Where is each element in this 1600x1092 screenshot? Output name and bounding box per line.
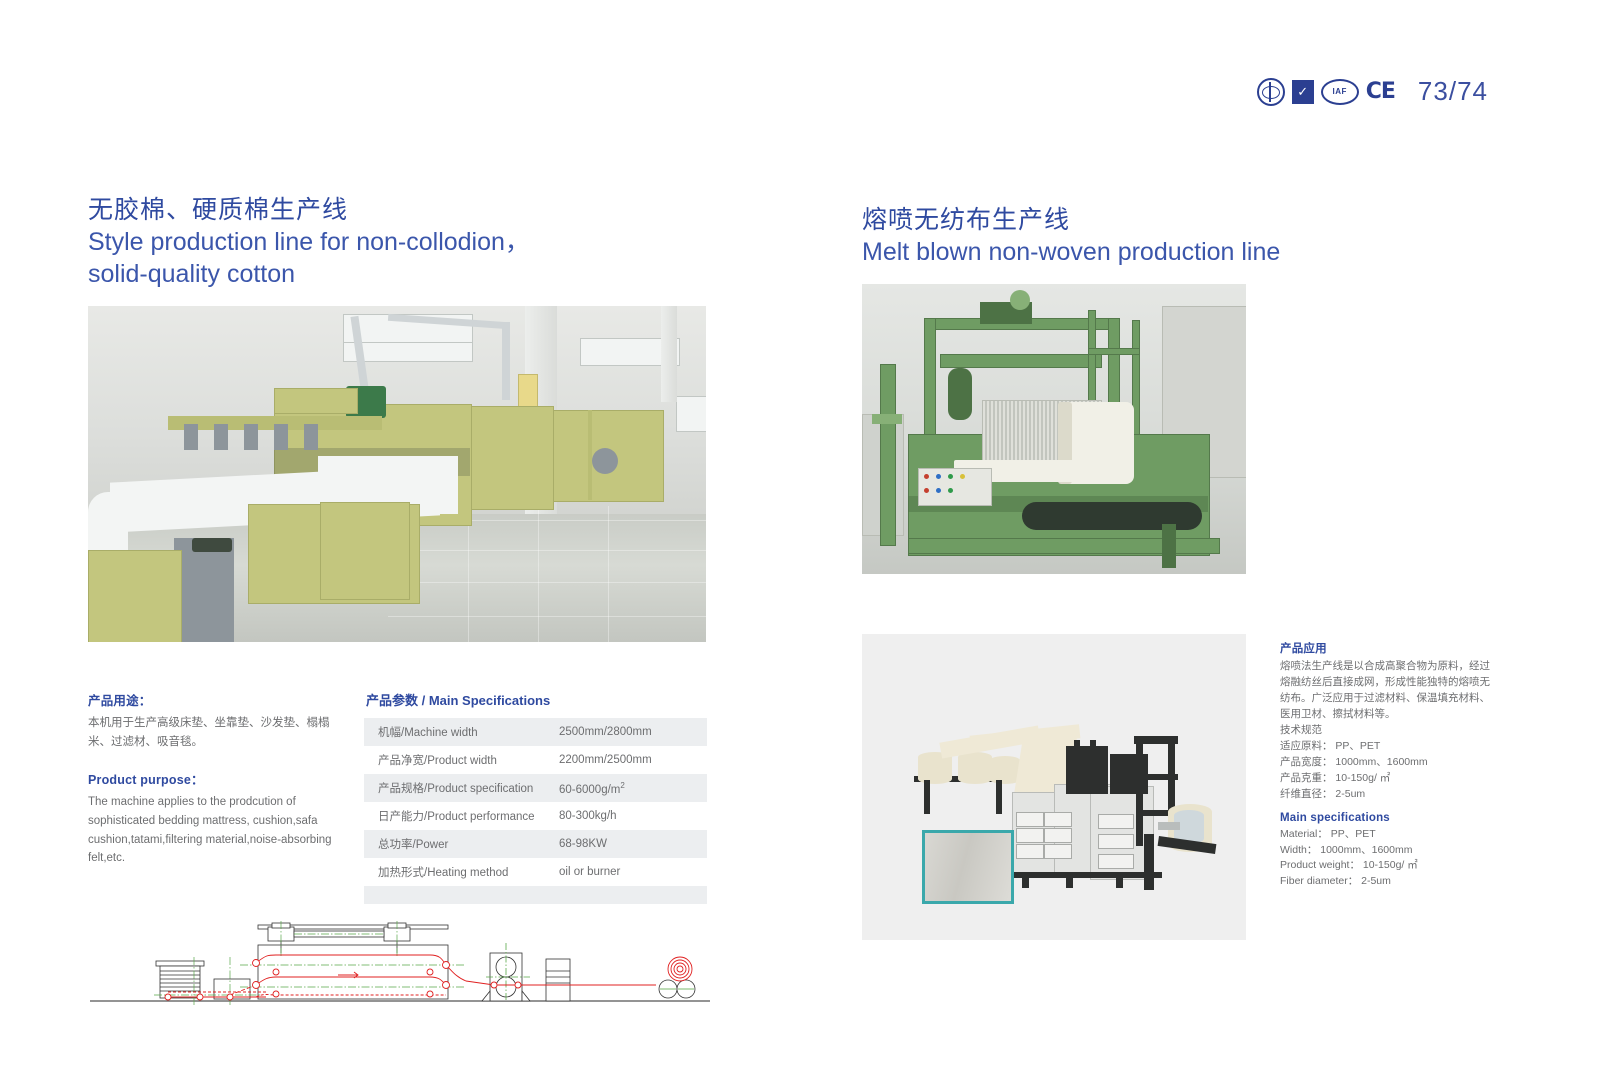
application-spec-line-en: Fiber diameter： 2-5um [1280, 874, 1498, 890]
purpose-heading-cn: 产品用途： [88, 690, 343, 709]
fabric-sample-inset [922, 830, 1014, 904]
application-spec-line-en: Width： 1000mm、1600mm [1280, 843, 1498, 859]
product-application-block: 产品应用 熔喷法生产线是以合成高聚合物为原料，经过熔融纺丝后直接成网，形成性能独… [1280, 640, 1498, 890]
specifications-block: 产品参数 / Main Specifications 机幅/Machine wi… [364, 690, 707, 904]
spec-row: 总功率/Power68-98KW [364, 830, 707, 858]
application-heading-en: Main specifications [1280, 812, 1498, 824]
page-number: 73/74 [1418, 76, 1488, 107]
right-title-cn: 熔喷无纺布生产线 [862, 200, 1502, 236]
left-title-block: 无胶棉、硬质棉生产线 Style production line for non… [88, 190, 708, 290]
application-spec-line-en: Product weight： 10-150g/ ㎡ [1280, 858, 1498, 874]
application-heading-cn: 产品应用 [1280, 640, 1498, 656]
spec-value: 68-98KW [549, 830, 707, 858]
application-specs-en: Material： PP、PETWidth： 1000mm、1600mmProd… [1280, 827, 1498, 891]
application-specs-cn: 适应原料： PP、PET产品宽度： 1000mm、1600mm产品克重： 10-… [1280, 739, 1498, 803]
purpose-text-en: The machine applies to the prodcution of… [88, 793, 343, 868]
mask-machine-photo [862, 634, 1246, 940]
right-factory-photo [862, 284, 1246, 574]
application-spec-line-cn: 产品克重： 10-150g/ ㎡ [1280, 771, 1498, 787]
application-text-cn: 熔喷法生产线是以合成高聚合物为原料，经过熔融纺丝后直接成网，形成性能独特的熔喷无… [1280, 659, 1498, 723]
cnas-check-icon: ✓ [1292, 80, 1314, 104]
left-title-en: Style production line for non-collodion，… [88, 226, 708, 290]
right-title-en: Melt blown non-woven production line [862, 236, 1502, 268]
application-spec-line-cn: 产品宽度： 1000mm、1600mm [1280, 755, 1498, 771]
purpose-heading-en: Product purpose： [88, 769, 343, 788]
right-column: 熔喷无纺布生产线 Melt blown non-woven production… [862, 200, 1502, 574]
ce-mark-icon: CE [1366, 79, 1395, 104]
left-factory-photo [88, 306, 706, 642]
right-title-block: 熔喷无纺布生产线 Melt blown non-woven production… [862, 200, 1502, 268]
spec-row: 日产能力/Product performance80-300kg/h [364, 802, 707, 830]
spec-label: 加热形式/Heating method [364, 858, 549, 886]
application-spec-line-cn: 纤维直径： 2-5um [1280, 787, 1498, 803]
specifications-title: 产品参数 / Main Specifications [366, 690, 707, 709]
spec-value: 60-6000g/m2 [549, 774, 707, 802]
application-spec-line-en: Material： PP、PET [1280, 827, 1498, 843]
catalog-page: ✓ IAF CE 73/74 无胶棉、硬质棉生产线 Style producti… [0, 0, 1600, 1092]
spec-label: 产品净宽/Product width [364, 746, 549, 774]
spec-value: 80-300kg/h [549, 802, 707, 830]
specifications-table: 机幅/Machine width2500mm/2800mm产品净宽/Produc… [364, 718, 707, 886]
application-spec-line-cn: 适应原料： PP、PET [1280, 739, 1498, 755]
spec-label: 总功率/Power [364, 830, 549, 858]
iaf-icon: IAF [1321, 79, 1359, 105]
left-title-cn: 无胶棉、硬质棉生产线 [88, 190, 708, 226]
spec-row: 加热形式/Heating methodoil or burner [364, 858, 707, 886]
left-column: 无胶棉、硬质棉生产线 Style production line for non… [88, 190, 708, 642]
spec-row: 机幅/Machine width2500mm/2800mm [364, 718, 707, 746]
page-header: ✓ IAF CE 73/74 [1257, 76, 1488, 107]
spec-label: 产品规格/Product specification [364, 774, 549, 802]
application-spec-heading-cn: 技术规范 [1280, 723, 1498, 739]
purpose-text-cn: 本机用于生产高级床垫、坐靠垫、沙发垫、榻榻米、过滤材、吸音毯。 [88, 714, 343, 751]
product-purpose-block: 产品用途： 本机用于生产高级床垫、坐靠垫、沙发垫、榻榻米、过滤材、吸音毯。 Pr… [88, 690, 343, 868]
spec-label: 日产能力/Product performance [364, 802, 549, 830]
spec-value: 2200mm/2500mm [549, 746, 707, 774]
spec-row: 产品规格/Product specification60-6000g/m2 [364, 774, 707, 802]
production-line-diagram [90, 895, 710, 1010]
spec-value: 2500mm/2800mm [549, 718, 707, 746]
spec-row: 产品净宽/Product width2200mm/2500mm [364, 746, 707, 774]
spec-value: oil or burner [549, 858, 707, 886]
spec-label: 机幅/Machine width [364, 718, 549, 746]
iso-seal-icon [1257, 78, 1285, 106]
